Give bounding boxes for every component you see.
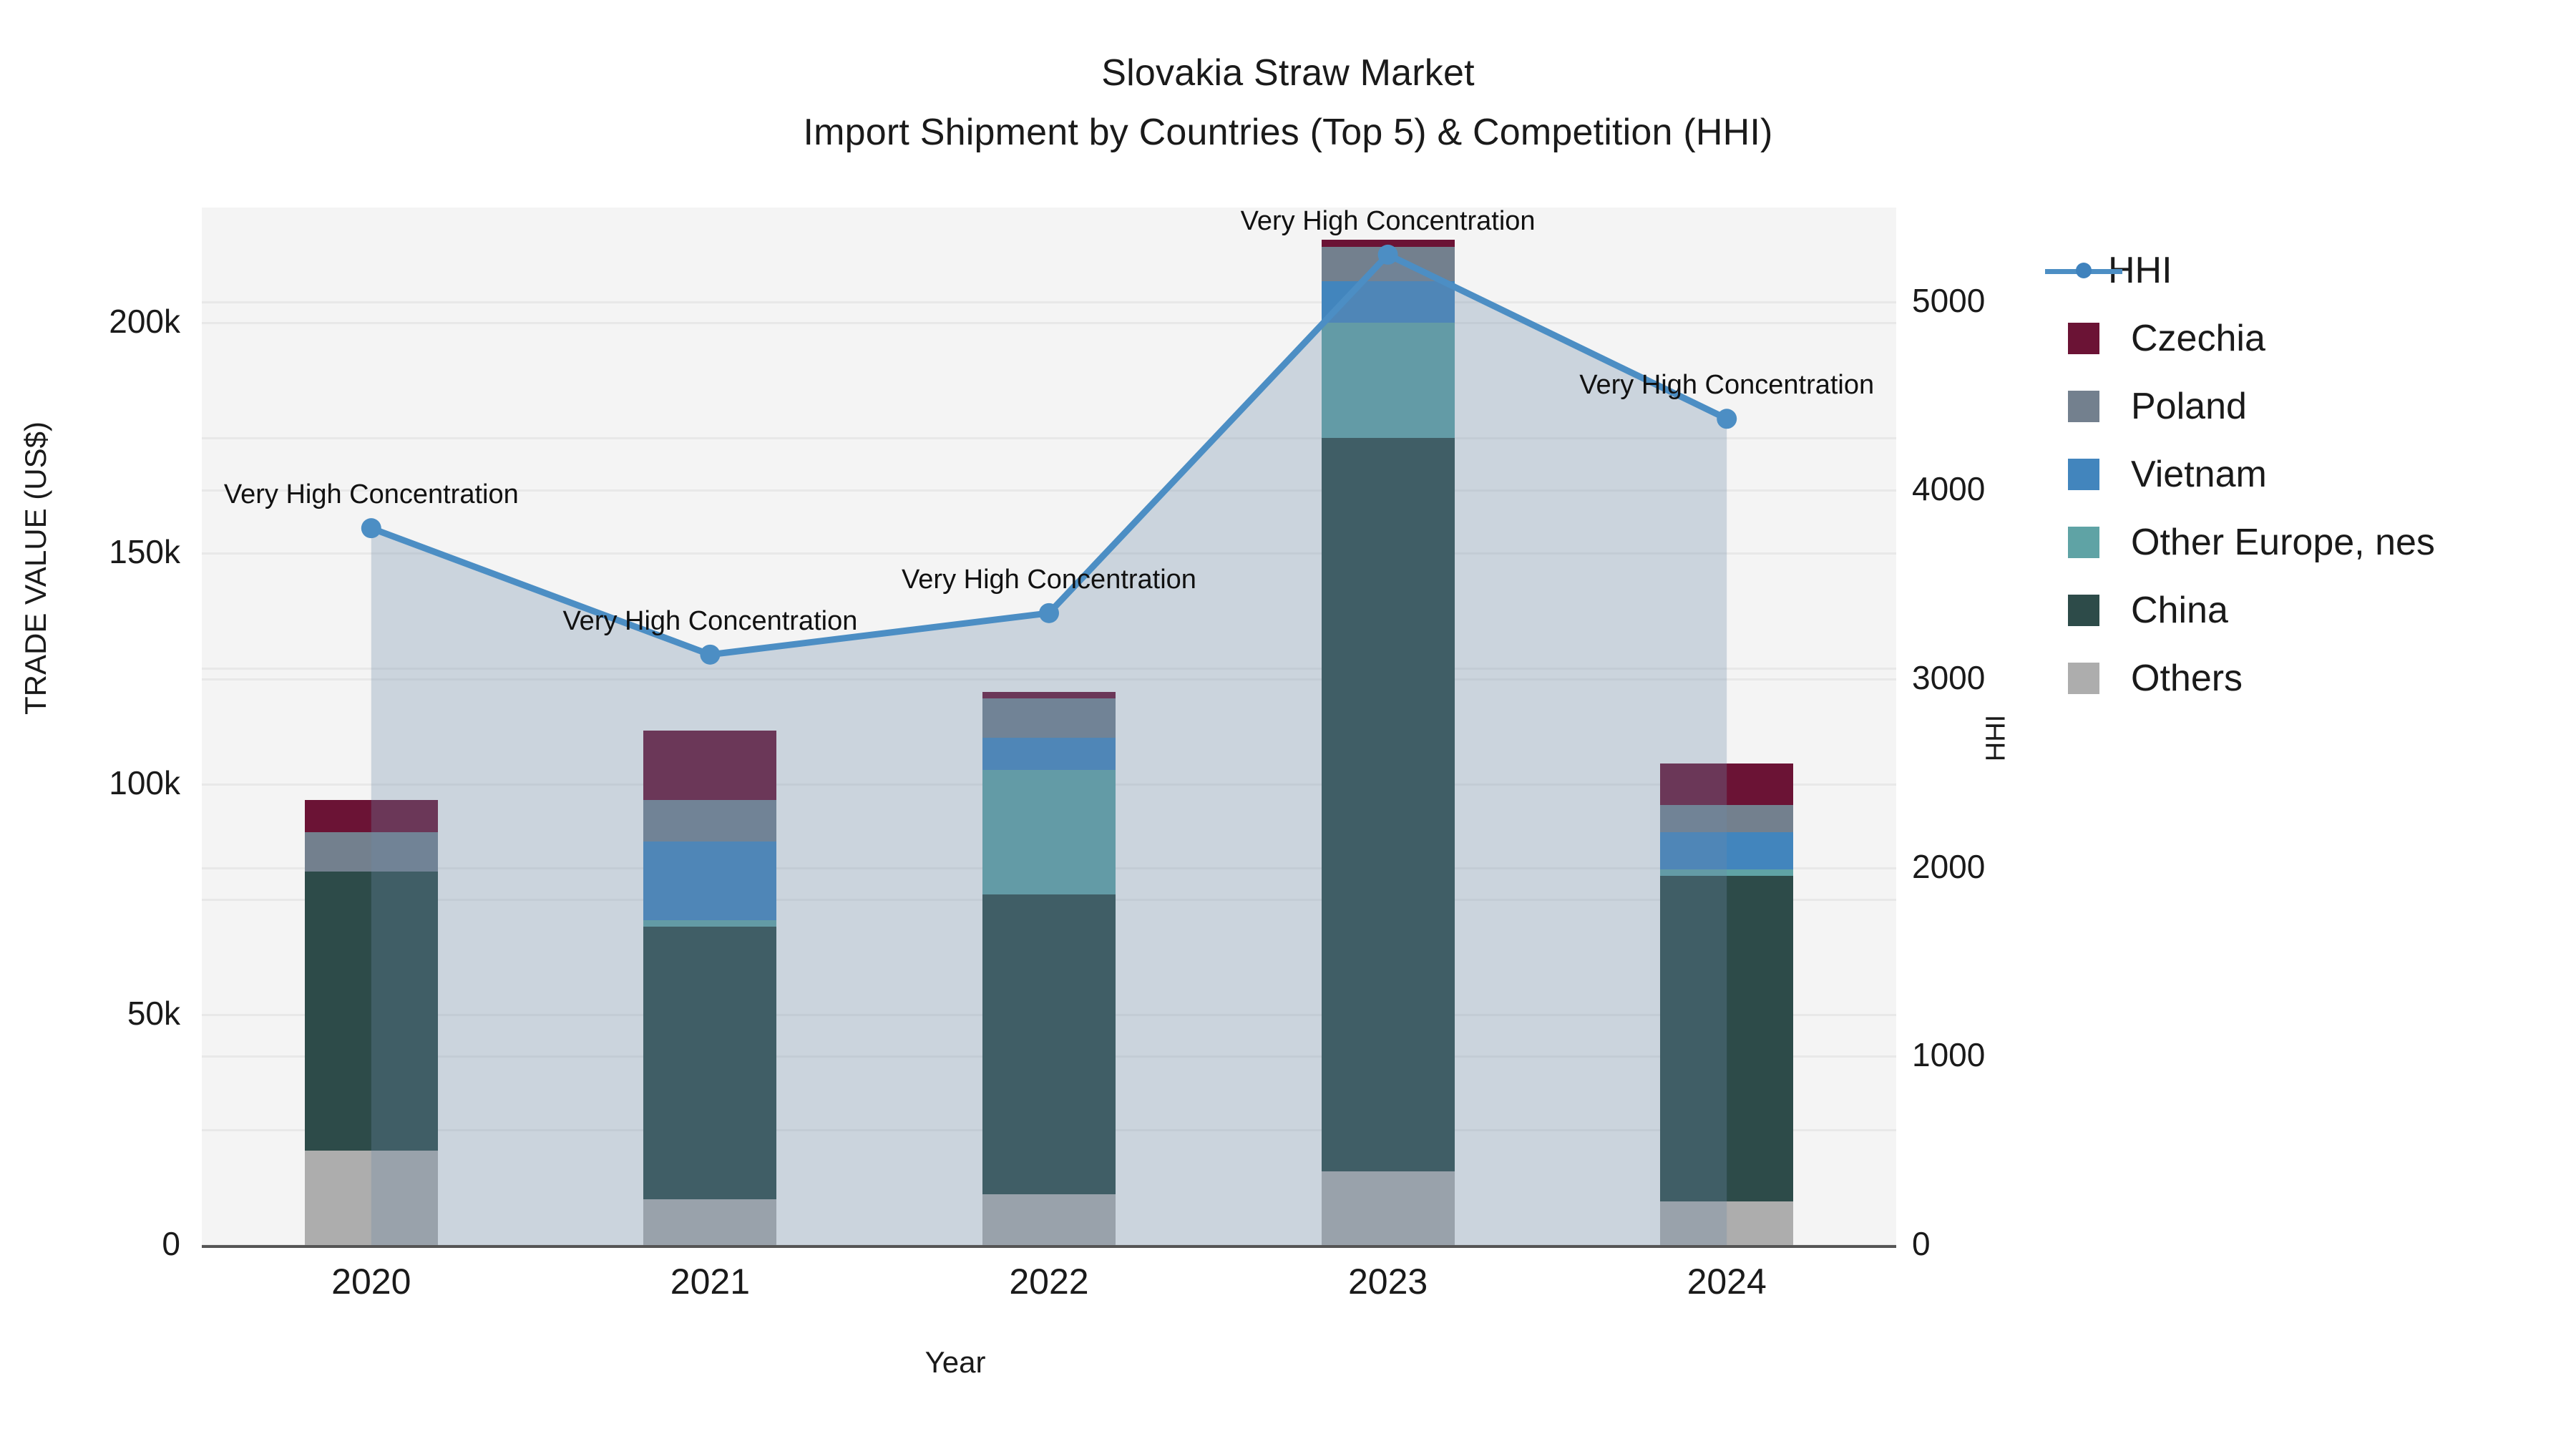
legend-color-swatch [2068, 595, 2099, 626]
y-axis-right-label: HHI [1981, 588, 2012, 889]
hhi-line-series [202, 208, 1896, 1245]
hhi-point-marker[interactable] [1717, 409, 1737, 429]
legend: HHICzechiaPolandVietnamOther Europe, nes… [2068, 236, 2569, 712]
legend-item-label: Poland [2131, 385, 2247, 428]
legend-item-label: China [2131, 589, 2228, 632]
chart-subtitle: Import Shipment by Countries (Top 5) & C… [0, 111, 2576, 155]
hhi-point-annotation: Very High Concentration [562, 606, 857, 637]
page-title: Slovakia Straw Market [0, 52, 2576, 95]
legend-color-swatch [2068, 663, 2099, 694]
chart-title-block: Slovakia Straw Market Import Shipment by… [0, 52, 2576, 155]
x-axis-tick: 2024 [1619, 1261, 1834, 1302]
legend-item-label: Others [2131, 657, 2243, 700]
x-axis-tick: 2022 [942, 1261, 1156, 1302]
legend-color-swatch [2068, 527, 2099, 558]
hhi-point-marker[interactable] [1039, 603, 1059, 623]
x-axis-tick: 2020 [264, 1261, 479, 1302]
y-axis-left-tick: 0 [0, 1224, 180, 1263]
legend-color-swatch [2068, 323, 2099, 354]
y-axis-right-tick: 4000 [1912, 469, 1985, 508]
hhi-line-marker-icon [2045, 255, 2122, 286]
hhi-point-annotation: Very High Concentration [1241, 206, 1536, 237]
x-axis-tick: 2021 [602, 1261, 817, 1302]
y-axis-left-tick: 200k [0, 302, 180, 341]
x-axis-label: Year [0, 1345, 1911, 1380]
hhi-point-marker[interactable] [1378, 245, 1398, 265]
hhi-point-annotation: Very High Concentration [1579, 370, 1874, 401]
y-axis-right-tick: 5000 [1912, 281, 1985, 320]
hhi-point-marker[interactable] [361, 518, 381, 538]
x-axis-tick: 2023 [1281, 1261, 1496, 1302]
hhi-point-annotation: Very High Concentration [224, 479, 519, 510]
legend-item-other-europe-nes[interactable]: Other Europe, nes [2068, 508, 2569, 576]
legend-item-china[interactable]: China [2068, 576, 2569, 644]
legend-item-label: Vietnam [2131, 453, 2267, 496]
y-axis-right-tick: 3000 [1912, 658, 1985, 697]
legend-color-swatch [2068, 459, 2099, 490]
legend-item-label: Czechia [2131, 317, 2265, 360]
y-axis-left-tick: 50k [0, 994, 180, 1033]
legend-item-label: Other Europe, nes [2131, 521, 2435, 564]
y-axis-right-tick: 2000 [1912, 847, 1985, 886]
x-axis-line [202, 1245, 1896, 1248]
legend-item-poland[interactable]: Poland [2068, 372, 2569, 440]
legend-item-czechia[interactable]: Czechia [2068, 304, 2569, 372]
y-axis-right-tick: 0 [1912, 1224, 1931, 1263]
legend-item-hhi[interactable]: HHI [2068, 236, 2569, 304]
legend-item-others[interactable]: Others [2068, 644, 2569, 712]
hhi-point-marker[interactable] [700, 645, 720, 665]
y-axis-left-label: TRADE VALUE (US$) [19, 339, 53, 797]
legend-item-vietnam[interactable]: Vietnam [2068, 440, 2569, 508]
y-axis-right-tick: 1000 [1912, 1035, 1985, 1074]
legend-color-swatch [2068, 391, 2099, 422]
hhi-point-annotation: Very High Concentration [902, 565, 1196, 595]
